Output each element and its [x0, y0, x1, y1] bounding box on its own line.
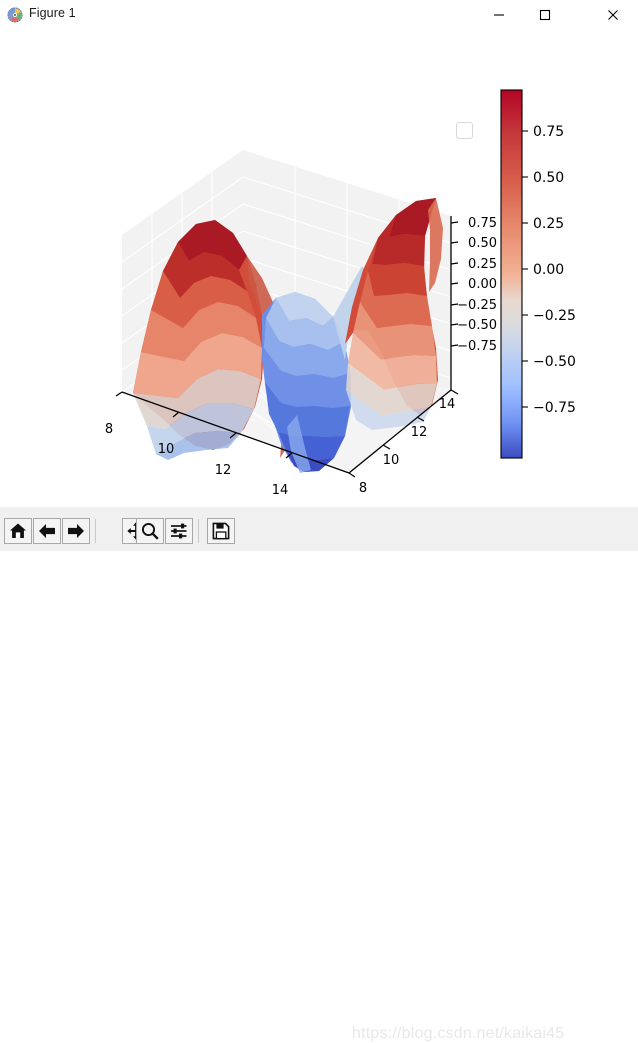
home-button[interactable] [4, 518, 32, 544]
sliders-icon [170, 523, 189, 540]
colorbar-tick-label: 0.50 [533, 170, 564, 186]
maximize-button[interactable] [522, 0, 568, 30]
surface-plot-3d: 8 10 12 14 8 10 12 14 0.75 0.50 0.25 0.0… [0, 30, 638, 507]
magnifier-icon [141, 522, 160, 541]
back-button[interactable] [33, 518, 61, 544]
figure-canvas[interactable]: 8 10 12 14 8 10 12 14 0.75 0.50 0.25 0.0… [0, 30, 638, 507]
colorbar-tick-label: 0.00 [533, 262, 564, 278]
y-tick-label: 8 [359, 481, 367, 496]
y-tick-label: 14 [439, 397, 456, 412]
minimize-button[interactable] [476, 0, 522, 30]
z-tick-label: 0.25 [468, 257, 497, 272]
z-tick-labels: 0.75 0.50 0.25 0.00 −0.25 −0.50 −0.75 [457, 216, 497, 354]
x-tick-label: 8 [105, 422, 113, 437]
colorbar-tick-label: 0.25 [533, 216, 564, 232]
arrow-left-icon [38, 523, 57, 540]
legend-box [456, 122, 473, 139]
close-button[interactable] [590, 0, 636, 30]
x-tick-label: 14 [272, 483, 289, 498]
y-tick-label: 12 [411, 425, 428, 440]
colorbar-gradient [501, 90, 522, 458]
z-tick-label: −0.75 [457, 339, 497, 354]
forward-button[interactable] [62, 518, 90, 544]
x-tick-label: 12 [215, 463, 232, 478]
z-tick-label: −0.50 [457, 318, 497, 333]
navigation-toolbar: https://blog.csdn.net/kaikai45 [0, 507, 638, 551]
colorbar-tick-labels: 0.75 0.50 0.25 0.00 −0.25 −0.50 −0.75 [533, 124, 576, 416]
x-tick-label: 10 [158, 442, 175, 457]
floppy-disk-icon [212, 522, 230, 540]
home-icon [9, 522, 28, 540]
z-tick-label: 0.50 [468, 236, 497, 251]
figure-window: Figure 1 [0, 0, 638, 551]
save-button[interactable] [207, 518, 235, 544]
arrow-right-icon [67, 523, 86, 540]
watermark-text: https://blog.csdn.net/kaikai45 [352, 1025, 564, 1043]
y-tick-label: 10 [383, 453, 400, 468]
colorbar: 0.75 0.50 0.25 0.00 −0.25 −0.50 −0.75 [501, 90, 576, 458]
toolbar-separator [95, 519, 96, 543]
configure-subplots-button[interactable] [165, 518, 193, 544]
z-tick-label: −0.25 [457, 298, 497, 313]
maximize-icon [539, 9, 551, 21]
colorbar-tick-label: −0.50 [533, 354, 576, 370]
toolbar-separator [198, 519, 199, 543]
colorbar-tick-label: 0.75 [533, 124, 564, 140]
colorbar-tick-label: −0.75 [533, 400, 576, 416]
z-tick-label: 0.75 [468, 216, 497, 231]
colorbar-tick-label: −0.25 [533, 308, 576, 324]
title-bar: Figure 1 [0, 0, 638, 30]
matplotlib-logo-icon [7, 7, 23, 23]
minimize-icon [493, 9, 505, 21]
window-title: Figure 1 [29, 6, 76, 20]
close-icon [607, 9, 619, 21]
zoom-button[interactable] [136, 518, 164, 544]
z-tick-label: 0.00 [468, 277, 497, 292]
colorbar-ticks [522, 131, 528, 407]
